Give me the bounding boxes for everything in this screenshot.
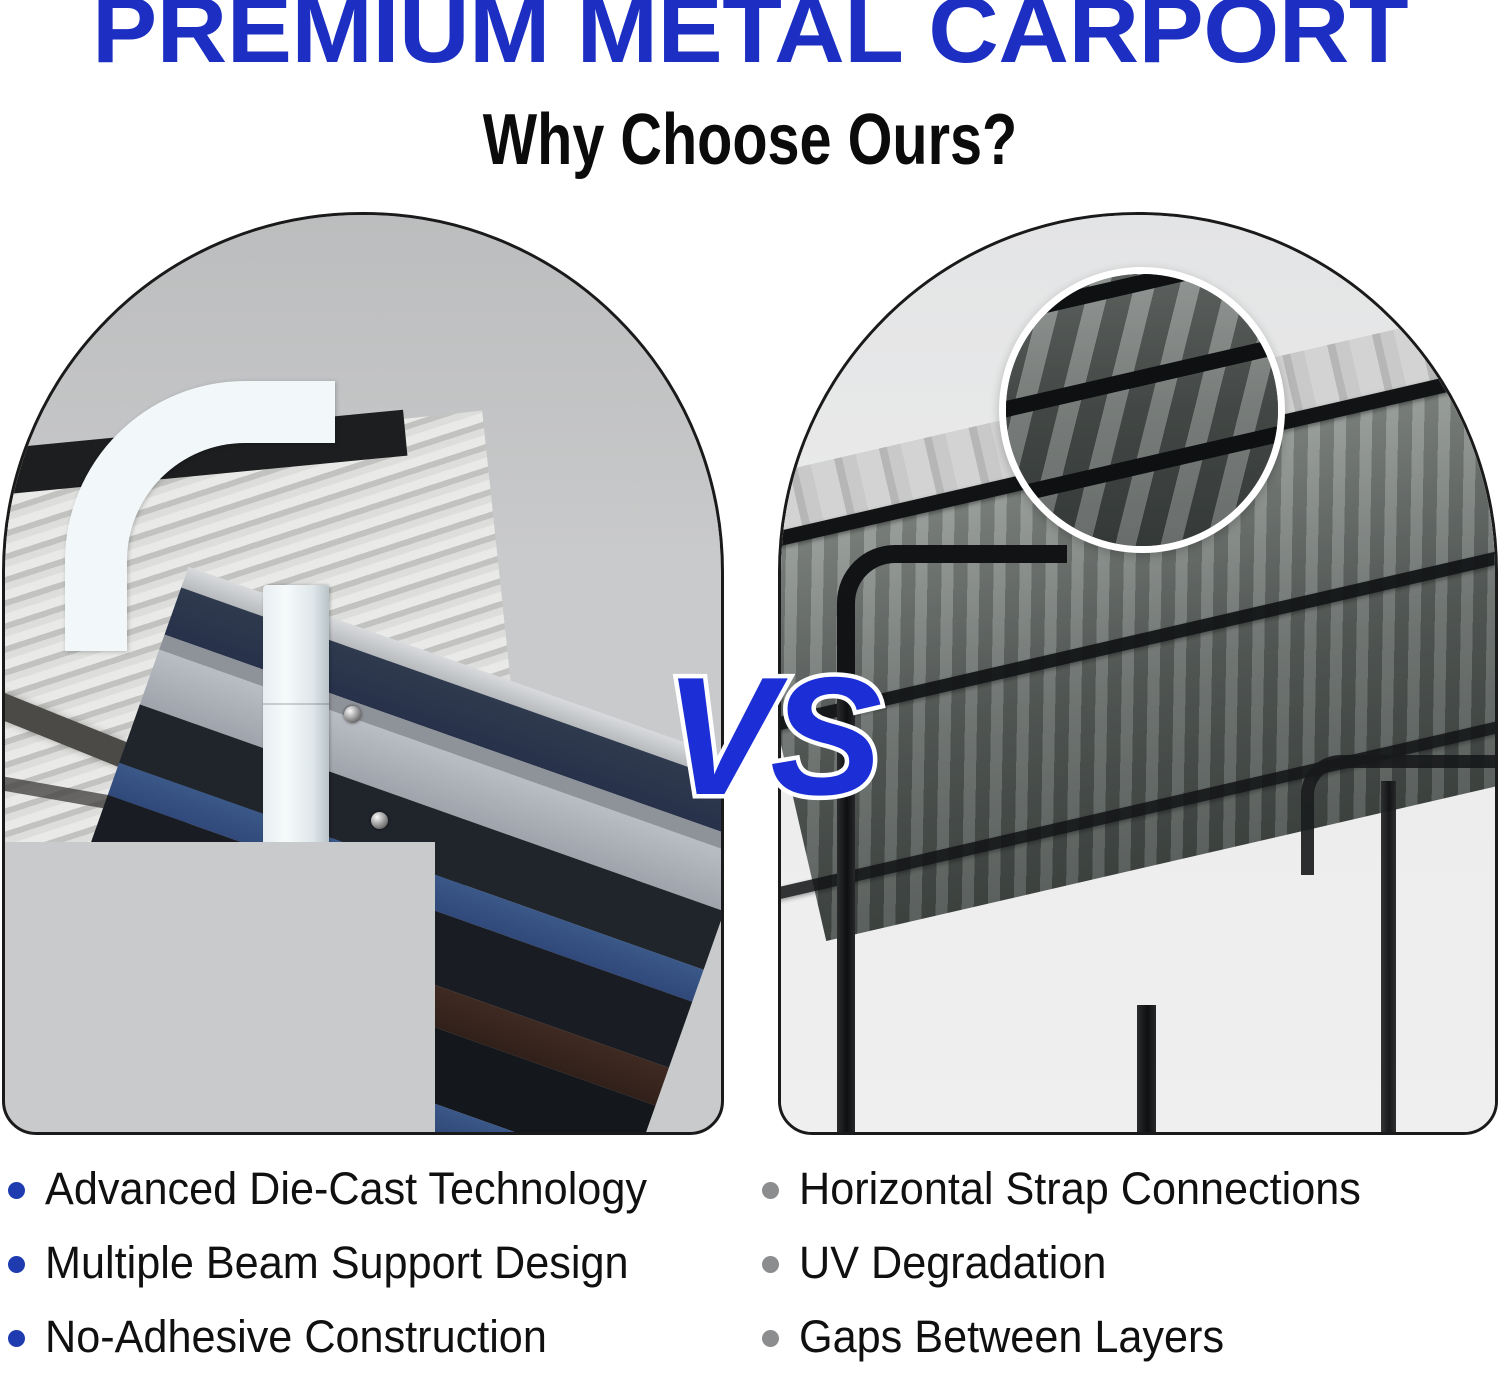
list-item: Horizontal Strap Connections	[762, 1160, 1498, 1234]
bullet-dot-icon	[8, 1182, 25, 1199]
list-item-label: Horizontal Strap Connections	[799, 1160, 1361, 1218]
vs-label: VS	[664, 636, 864, 836]
page-subtitle: Why Choose Ours?	[150, 100, 1350, 180]
list-item: Gaps Between Layers	[762, 1308, 1498, 1382]
list-item-label: No-Adhesive Construction	[45, 1308, 547, 1366]
magnifier-content	[999, 267, 1285, 553]
photo-rear-frame	[1301, 755, 1498, 875]
list-item: No-Adhesive Construction	[8, 1308, 738, 1382]
bullet-dot-icon	[762, 1256, 779, 1273]
others-feature-list: Horizontal Strap Connections UV Degradat…	[762, 1160, 1498, 1382]
magnified-strap	[999, 418, 1285, 528]
magnifier-callout	[999, 267, 1285, 553]
photo-lower-overlay	[5, 842, 435, 1132]
photo-bolt-icon	[371, 812, 388, 829]
list-item: UV Degradation	[762, 1234, 1498, 1308]
photo-black-post	[1381, 781, 1396, 1135]
bullet-dot-icon	[8, 1330, 25, 1347]
others-product-photo	[781, 215, 1495, 1132]
page-title: PREMIUM METAL CARPORT	[0, 0, 1500, 82]
magnified-strap	[999, 330, 1285, 440]
bullet-dot-icon	[762, 1182, 779, 1199]
list-item-label: Multiple Beam Support Design	[45, 1234, 629, 1292]
list-item-label: UV Degradation	[799, 1234, 1106, 1292]
list-item-label: Gaps Between Layers	[799, 1308, 1224, 1366]
photo-black-post	[1137, 1005, 1156, 1135]
list-item: Multiple Beam Support Design	[8, 1234, 738, 1308]
comparison-panel-ours: ZYNFYLUS	[2, 212, 724, 1135]
ours-product-photo	[5, 215, 721, 1132]
list-item: Advanced Die-Cast Technology	[8, 1160, 738, 1234]
photo-bolt-icon	[344, 706, 361, 723]
magnified-strap	[999, 267, 1285, 345]
ours-feature-list: Advanced Die-Cast Technology Multiple Be…	[8, 1160, 738, 1382]
comparison-panel-others: OTHERS	[778, 212, 1498, 1135]
bullet-dot-icon	[762, 1330, 779, 1347]
post-segment-line	[263, 703, 329, 705]
list-item-label: Advanced Die-Cast Technology	[45, 1160, 647, 1218]
header: PREMIUM METAL CARPORT Why Choose Ours?	[0, 0, 1500, 205]
bullet-dot-icon	[8, 1256, 25, 1273]
